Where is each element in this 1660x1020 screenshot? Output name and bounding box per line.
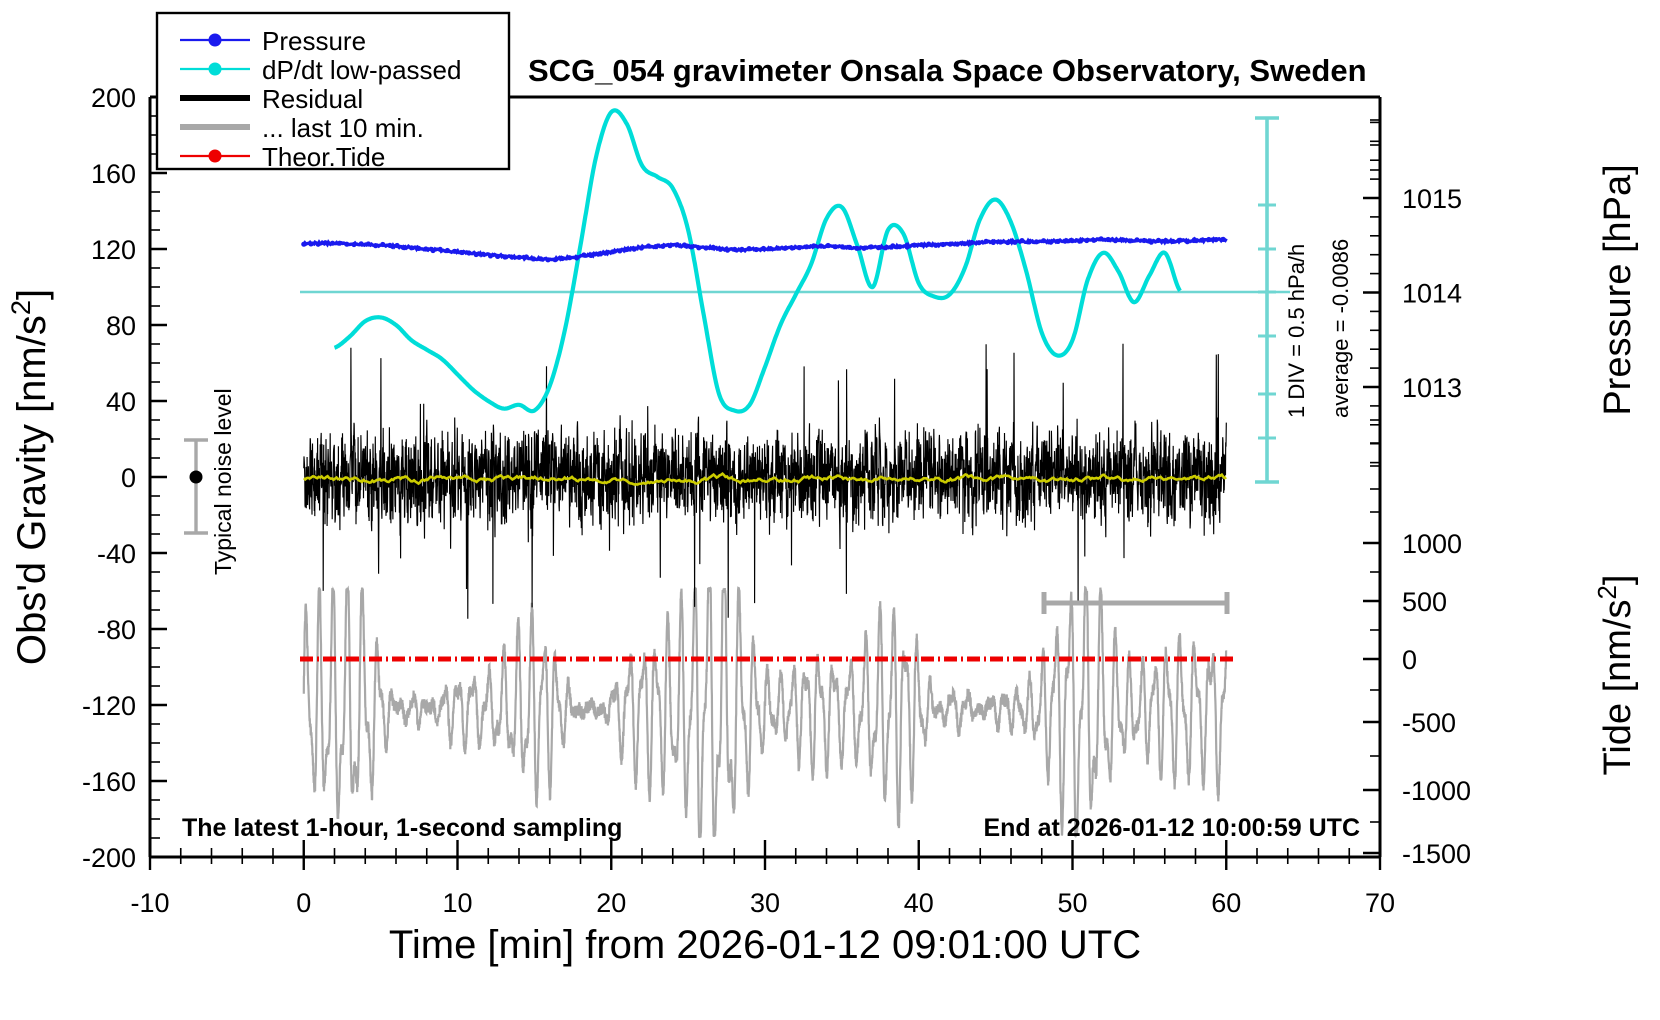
y-tick-label: 160 bbox=[91, 159, 136, 189]
y-tick-label: 200 bbox=[91, 83, 136, 113]
x-tick-label: 10 bbox=[442, 888, 472, 918]
gravimeter-figure: 20016012080400-40-80-120-160-200 -100102… bbox=[0, 0, 1660, 1020]
x-tick-label: 20 bbox=[596, 888, 626, 918]
right-pressure-axis-label: Pressure [hPa] bbox=[1597, 164, 1639, 415]
y-tick-label: 80 bbox=[106, 311, 136, 341]
x-tick-label: 30 bbox=[750, 888, 780, 918]
x-tick-label: 50 bbox=[1057, 888, 1087, 918]
x-tick-label: -10 bbox=[130, 888, 169, 918]
right-tide-tick-label: 500 bbox=[1402, 587, 1447, 617]
average-label: average = -0.0086 bbox=[1328, 239, 1353, 418]
right-tide-tick-label: -500 bbox=[1402, 708, 1456, 738]
legend: PressuredP/dt low-passedResidual... last… bbox=[157, 13, 509, 172]
y-tick-label: -80 bbox=[97, 615, 136, 645]
plot-canvas: 20016012080400-40-80-120-160-200 -100102… bbox=[0, 0, 1660, 1020]
typical-noise-level-label: Typical noise level bbox=[210, 388, 236, 575]
y-tick-label: 0 bbox=[121, 463, 136, 493]
right-tide-tick-label: 1000 bbox=[1402, 529, 1462, 559]
div-scale-label: 1 DIV = 0.5 hPa/h bbox=[1284, 244, 1309, 418]
right-tide-tick-label: -1500 bbox=[1402, 839, 1471, 869]
y-tick-label: -120 bbox=[82, 691, 136, 721]
right-tide-tick-label: -1000 bbox=[1402, 776, 1471, 806]
right-pressure-tick-label: 1013 bbox=[1402, 373, 1462, 403]
legend-marker bbox=[209, 150, 222, 163]
end-time-note: End at 2026-01-12 10:00:59 UTC bbox=[983, 814, 1360, 842]
x-tick-label: 40 bbox=[904, 888, 934, 918]
x-axis-label: Time [min] from 2026-01-12 09:01:00 UTC bbox=[389, 923, 1141, 967]
right-tide-axis-label: Tide [nm/s2] bbox=[1594, 575, 1639, 776]
y-tick-label: -40 bbox=[97, 539, 136, 569]
legend-label: dP/dt low-passed bbox=[262, 55, 461, 85]
legend-marker bbox=[209, 34, 222, 47]
y-tick-label: -200 bbox=[82, 843, 136, 873]
right-tide-tick-label: 0 bbox=[1402, 645, 1417, 675]
y-axis-label: Obs'd Gravity [nm/s2] bbox=[5, 289, 55, 665]
legend-label: Residual bbox=[262, 84, 363, 114]
page-title: SCG_054 gravimeter Onsala Space Observat… bbox=[528, 53, 1367, 88]
legend-label: ... last 10 min. bbox=[262, 113, 424, 143]
right-pressure-tick-label: 1014 bbox=[1402, 279, 1462, 309]
sampling-note: The latest 1-hour, 1-second sampling bbox=[182, 814, 622, 842]
x-tick-label: 70 bbox=[1365, 888, 1395, 918]
legend-marker bbox=[209, 63, 222, 76]
x-tick-label: 60 bbox=[1211, 888, 1241, 918]
x-tick-label: 0 bbox=[296, 888, 311, 918]
y-tick-label: -160 bbox=[82, 767, 136, 797]
legend-label: Pressure bbox=[262, 26, 366, 56]
y-tick-label: 40 bbox=[106, 387, 136, 417]
y-tick-label: 120 bbox=[91, 235, 136, 265]
right-pressure-tick-label: 1015 bbox=[1402, 184, 1462, 214]
legend-label: Theor.Tide bbox=[262, 142, 385, 172]
